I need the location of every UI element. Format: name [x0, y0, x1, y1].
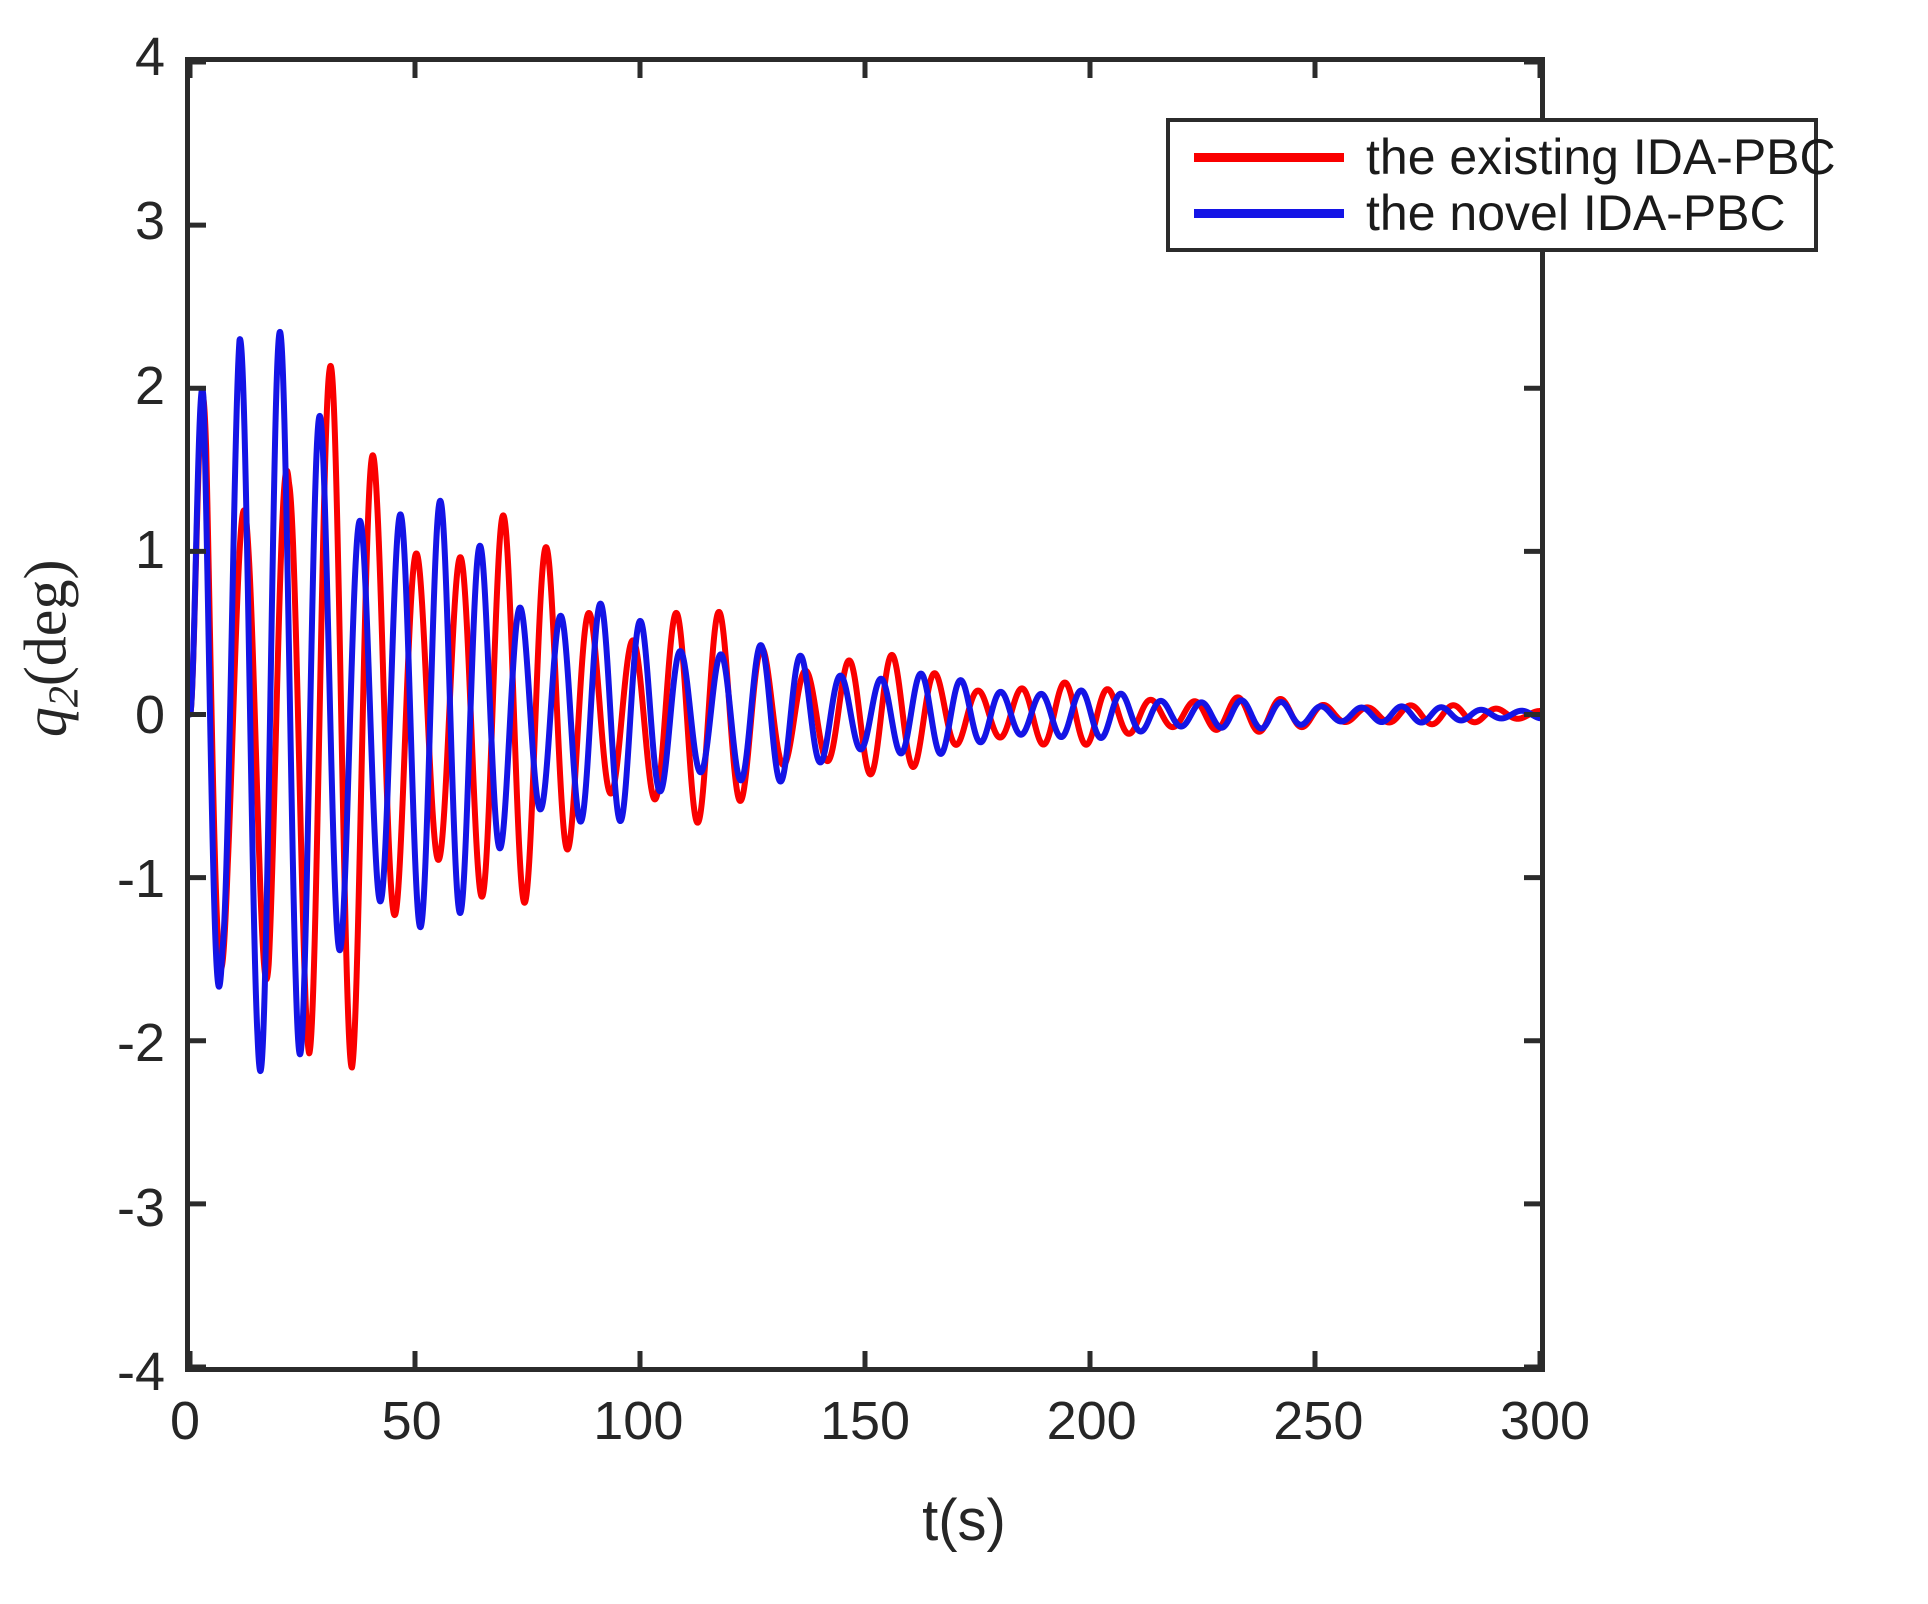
plot-canvas — [190, 62, 1540, 1367]
legend-label-novel: the novel IDA-PBC — [1366, 188, 1786, 238]
y-tick-label: -3 — [35, 1177, 165, 1239]
x-tick-label: 100 — [538, 1390, 738, 1452]
x-tick-label: 50 — [312, 1390, 512, 1452]
legend-item-novel: the novel IDA-PBC — [1170, 185, 1814, 241]
legend-swatch-novel — [1194, 209, 1344, 218]
chart-figure: q2(deg) the existing IDA-PBC the novel I… — [0, 0, 1928, 1604]
chart-legend: the existing IDA-PBC the novel IDA-PBC — [1166, 118, 1818, 252]
legend-item-existing: the existing IDA-PBC — [1170, 129, 1814, 185]
x-tick-label: 0 — [85, 1390, 285, 1452]
x-tick-label: 300 — [1445, 1390, 1645, 1452]
y-tick-label: 1 — [35, 519, 165, 581]
y-axis-title-wrapper: q2(deg) — [12, 368, 89, 928]
x-tick-label: 150 — [765, 1390, 965, 1452]
plot-area — [185, 57, 1545, 1372]
legend-swatch-existing — [1194, 153, 1344, 162]
y-tick-label: 0 — [35, 684, 165, 746]
y-tick-label: 3 — [35, 190, 165, 252]
y-tick-label: 2 — [35, 355, 165, 417]
series-line-novel — [190, 332, 1540, 1071]
x-axis-title: t(s) — [0, 1487, 1928, 1554]
y-tick-label: -2 — [35, 1012, 165, 1074]
legend-label-existing: the existing IDA-PBC — [1366, 132, 1836, 182]
x-tick-label: 200 — [992, 1390, 1192, 1452]
y-tick-label: -1 — [35, 848, 165, 910]
y-tick-label: 4 — [35, 26, 165, 88]
x-tick-label: 250 — [1218, 1390, 1418, 1452]
series-group — [190, 332, 1540, 1071]
